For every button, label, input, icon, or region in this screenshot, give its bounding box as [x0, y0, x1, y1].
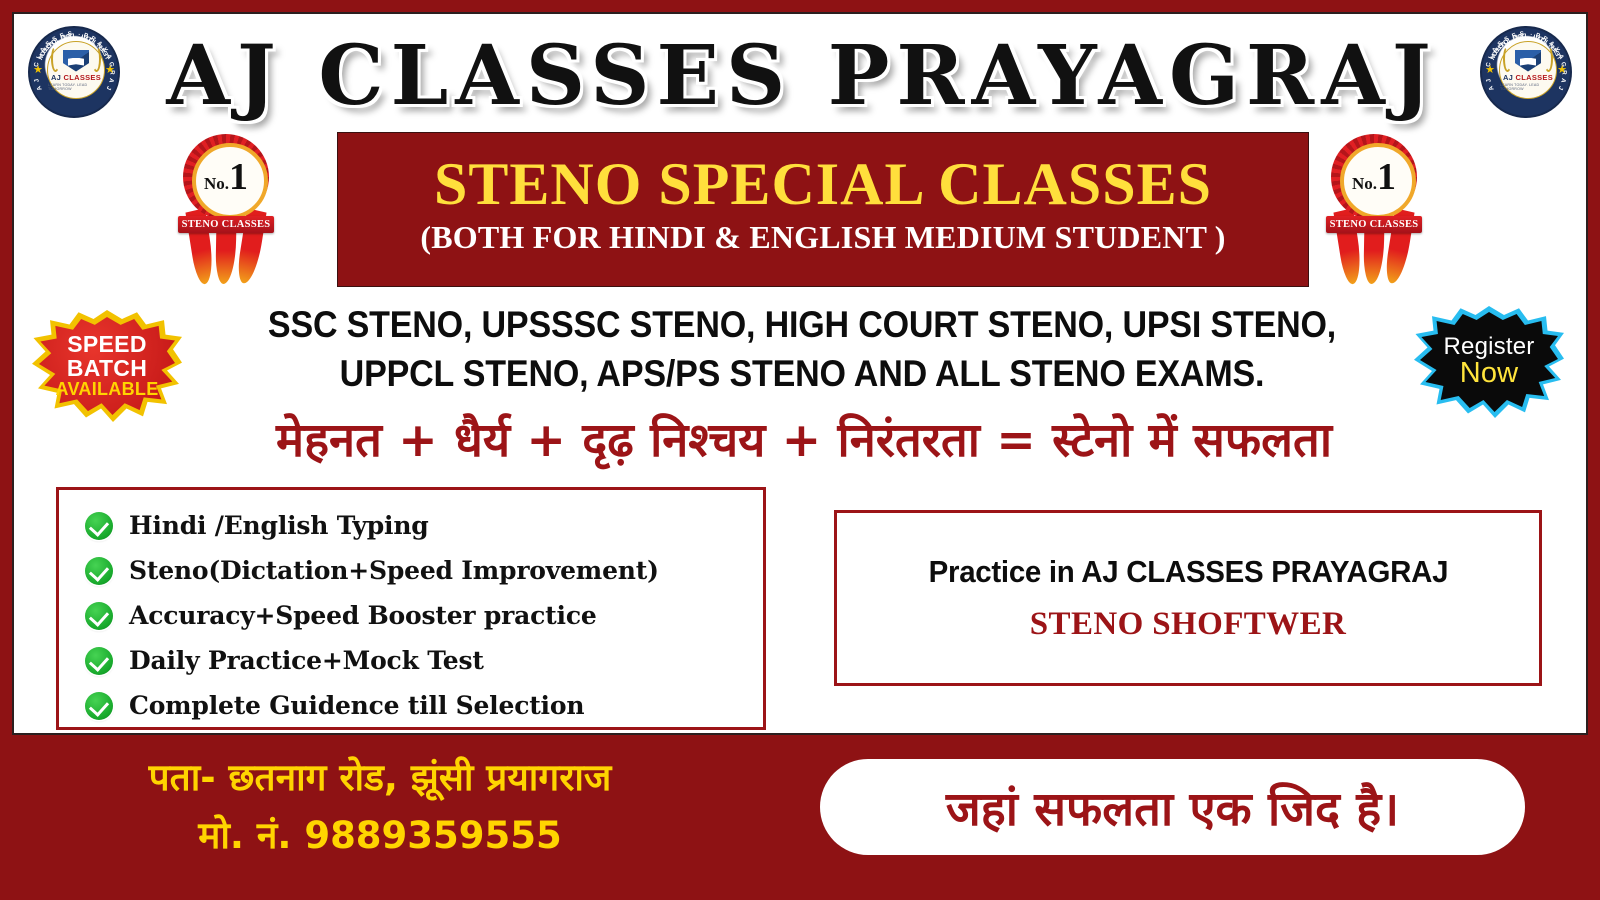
speed-batch-line2: BATCH [55, 357, 158, 380]
list-item: Accuracy+Speed Booster practice [85, 593, 763, 638]
wreath-right-icon [92, 46, 101, 72]
no1-rosette-right: No.1 STENO CLASSES [1325, 132, 1423, 292]
rosette-band-left: STENO CLASSES [178, 216, 274, 233]
exam-list-line-1: SSC STENO, UPSSSC STENO, HIGH COURT STEN… [243, 300, 1362, 349]
list-item: Hindi /English Typing [85, 503, 763, 548]
footer-tagline: जहां सफलता एक जिद है। [946, 775, 1399, 839]
open-book-icon [68, 58, 84, 66]
logo-name-prefix-2: AJ [1503, 73, 1516, 82]
logo-inner-name-2: AJ CLASSES [1503, 73, 1553, 82]
footer-tagline-pill: जहां सफलता एक जिद है। [820, 759, 1525, 855]
rosette-band-right: STENO CLASSES [1326, 216, 1422, 233]
check-circle-icon [85, 557, 113, 585]
logo-name-suffix-2: CLASSES [1516, 73, 1554, 82]
logo-ring-char: J [1556, 85, 1564, 91]
feature-label: Daily Practice+Mock Test [129, 646, 484, 675]
list-item: Daily Practice+Mock Test [85, 638, 763, 683]
register-line1: Register [1444, 335, 1535, 359]
banner-subtitle: (BOTH FOR HINDI & ENGLISH MEDIUM STUDENT… [420, 217, 1225, 257]
rosette-no-prefix: No. [204, 174, 229, 193]
logo-inner-name: AJ CLASSES [51, 73, 101, 82]
list-item: Complete Guidence till Selection [85, 683, 763, 728]
logo-badge-left: AJCLASSESPRAYAGRAJLEARNTODAY.LEADTOMORRO… [28, 26, 120, 118]
speed-batch-line1: SPEED [55, 333, 158, 356]
wreath-left-icon [51, 46, 60, 72]
footer-phone[interactable]: मो. नं. 9889359555 [60, 807, 700, 865]
practice-software-box: Practice in AJ CLASSES PRAYAGRAJ STENO S… [834, 510, 1542, 686]
steno-special-banner: STENO SPECIAL CLASSES (BOTH FOR HINDI & … [337, 132, 1309, 287]
practice-heading: Practice in AJ CLASSES PRAYAGRAJ [928, 554, 1448, 590]
rosette-rank-left: No.1 [204, 155, 248, 199]
footer-contact: पता- छतनाग रोड, झूंसी प्रयागराज मो. नं. … [60, 749, 700, 865]
speed-batch-line3: AVAILABLE [55, 380, 158, 398]
rosette-number-2: 1 [1377, 156, 1396, 198]
logo-inner-right: AJ CLASSES LEARN TODAY. LEAD TOMORROW [1499, 41, 1557, 99]
check-circle-icon [85, 692, 113, 720]
logo-inner-tagline: LEARN TODAY. LEAD TOMORROW [48, 83, 104, 91]
practice-software-name: STENO SHOFTWER [1030, 606, 1346, 643]
feature-label: Steno(Dictation+Speed Improvement) [129, 556, 659, 585]
logo-ring-char: A [107, 77, 115, 83]
exam-list-line-2: UPPCL STENO, APS/PS STENO AND ALL STENO … [243, 349, 1362, 398]
no1-rosette-left: No.1 STENO CLASSES [177, 132, 275, 292]
graduation-crest-icon-2 [1515, 50, 1541, 72]
register-now-text: Register Now [1444, 335, 1535, 389]
logo-name-suffix: CLASSES [64, 73, 102, 82]
wreath-right-icon-2 [1544, 46, 1553, 72]
features-box: Hindi /English Typing Steno(Dictation+Sp… [56, 487, 766, 730]
graduation-cap-icon [66, 44, 86, 49]
feature-label: Hindi /English Typing [129, 511, 429, 540]
banner-title: STENO SPECIAL CLASSES [434, 151, 1212, 217]
feature-label: Complete Guidence till Selection [129, 691, 584, 720]
wreath-left-icon-2 [1503, 46, 1512, 72]
logo-ring-char: J [104, 85, 112, 91]
footer-address: पता- छतनाग रोड, झूंसी प्रयागराज [60, 749, 700, 807]
footer-bar: पता- छतनाग रोड, झूंसी प्रयागराज मो. नं. … [0, 735, 1600, 900]
logo-ring-char: A [1487, 84, 1495, 91]
logo-inner-tagline-2: LEARN TODAY. LEAD TOMORROW [1500, 83, 1556, 91]
check-circle-icon [85, 602, 113, 630]
exam-list: SSC STENO, UPSSSC STENO, HIGH COURT STEN… [243, 300, 1362, 398]
logo-name-prefix: AJ [51, 73, 64, 82]
check-circle-icon [85, 512, 113, 540]
logo-badge-right: AJCLASSESPRAYAGRAJLEARNTODAY.LEADTOMORRO… [1480, 26, 1572, 118]
speed-batch-text: SPEED BATCH AVAILABLE [55, 333, 158, 398]
check-circle-icon [85, 647, 113, 675]
feature-label: Accuracy+Speed Booster practice [129, 601, 597, 630]
register-line2: Now [1444, 359, 1535, 389]
logo-ring-char: J [1485, 78, 1493, 83]
rosette-rank-right: No.1 [1352, 155, 1396, 199]
logo-ring-char: A [35, 84, 43, 91]
hindi-formula-slogan: मेहनत + धैर्य + दृढ़ निश्चय + निरंतरता =… [94, 406, 1514, 476]
logo-ring-char: J [33, 78, 41, 83]
rosette-number: 1 [229, 156, 248, 198]
page-title: AJ CLASSES PRAYAGRAJ [134, 28, 1470, 124]
open-book-icon-2 [1520, 58, 1536, 66]
rosette-no-prefix-2: No. [1352, 174, 1377, 193]
poster-card: AJCLASSESPRAYAGRAJLEARNTODAY.LEADTOMORRO… [12, 12, 1588, 735]
graduation-crest-icon [63, 50, 89, 72]
poster-root: AJCLASSESPRAYAGRAJLEARNTODAY.LEADTOMORRO… [0, 0, 1600, 900]
list-item: Steno(Dictation+Speed Improvement) [85, 548, 763, 593]
logo-ring-char: A [1559, 77, 1567, 83]
graduation-cap-icon-2 [1518, 44, 1538, 49]
register-now-badge[interactable]: Register Now [1414, 306, 1564, 418]
logo-inner-left: AJ CLASSES LEARN TODAY. LEAD TOMORROW [47, 41, 105, 99]
